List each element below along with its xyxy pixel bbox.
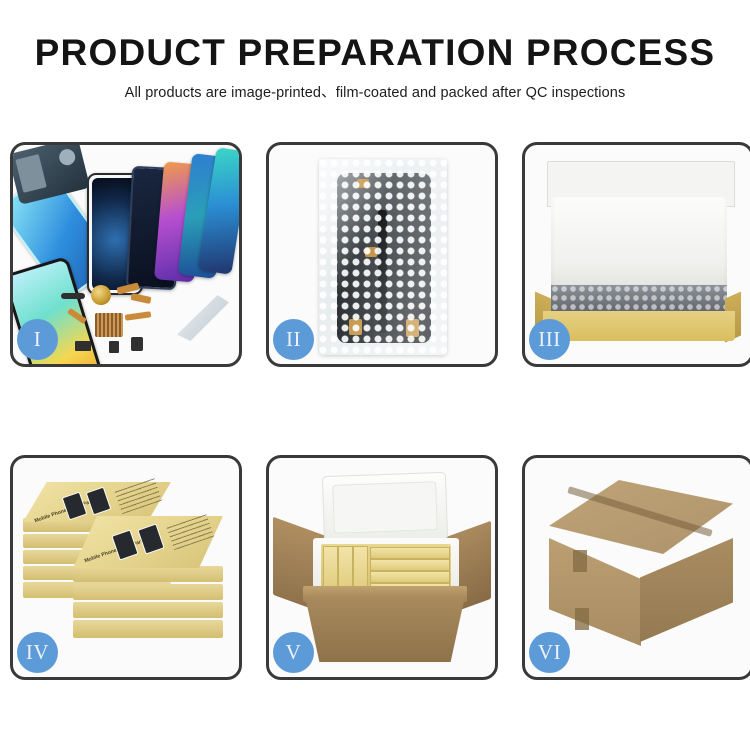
stacked-box-side-6 xyxy=(73,566,223,582)
flex-cable-d xyxy=(125,311,152,321)
phone-opened-chassis xyxy=(10,142,90,205)
box-front-yellow xyxy=(543,311,735,341)
tweezers-tool-icon xyxy=(177,295,229,341)
step-badge-5: V xyxy=(273,632,314,673)
page-header: PRODUCT PREPARATION PROCESS All products… xyxy=(0,30,750,104)
carton-body xyxy=(305,596,465,662)
battery-connector-part xyxy=(75,341,91,351)
process-step-panel-6[interactable]: VI xyxy=(522,455,750,680)
stacked-box-side-7 xyxy=(73,584,223,600)
wireless-charging-coil-icon xyxy=(91,285,111,305)
foam-box-lid xyxy=(322,472,448,544)
process-step-panel-4[interactable]: Mobile Phone Spare Parts Mobile Phone Sp… xyxy=(10,455,242,680)
process-step-panel-5[interactable]: V xyxy=(266,455,498,680)
process-step-grid: I II xyxy=(10,142,740,738)
carton-left-face xyxy=(549,538,641,646)
carton-right-face xyxy=(640,538,733,642)
step-badge-4: IV xyxy=(17,632,58,673)
vibration-motor-part xyxy=(131,337,143,351)
process-step-panel-1[interactable]: I xyxy=(10,142,242,367)
step-badge-1: I xyxy=(17,319,58,360)
foam-sheet xyxy=(551,197,727,291)
stacked-box-side-9 xyxy=(73,620,223,638)
carton-tape-patch-top xyxy=(573,550,587,572)
step-badge-6: VI xyxy=(529,632,570,673)
step-badge-3: III xyxy=(529,319,570,360)
process-step-panel-2[interactable]: II xyxy=(266,142,498,367)
logic-board-chip xyxy=(95,313,123,337)
plastic-sheen xyxy=(319,159,447,355)
stacked-box-side-8 xyxy=(73,602,223,618)
flex-cable-b xyxy=(130,293,151,304)
step-badge-2: II xyxy=(273,319,314,360)
camera-module-part xyxy=(109,341,119,353)
bubble-wrap-bag xyxy=(319,159,447,355)
page-subtitle: All products are image-printed、film-coat… xyxy=(0,82,750,104)
page-title: PRODUCT PREPARATION PROCESS xyxy=(0,30,750,76)
carton-tape-patch-bottom xyxy=(575,608,589,630)
process-step-panel-3[interactable]: III xyxy=(522,142,750,367)
speaker-part xyxy=(61,293,85,299)
